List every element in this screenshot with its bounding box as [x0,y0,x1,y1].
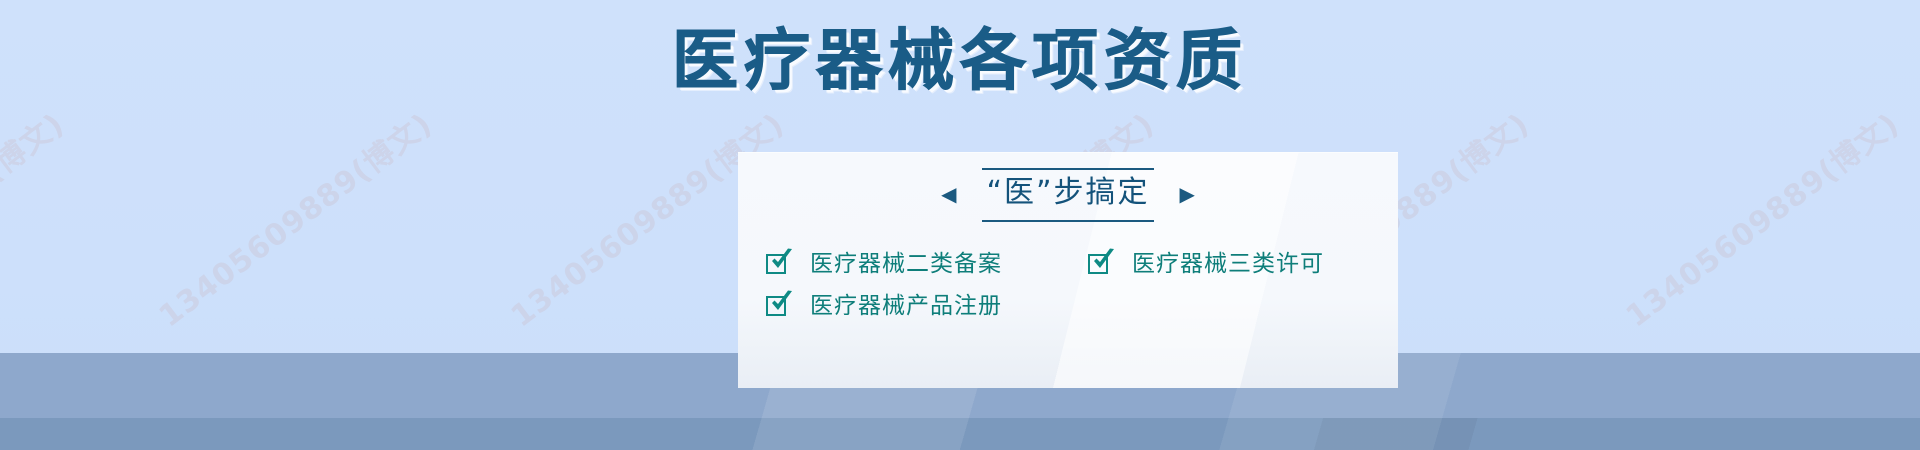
checkbox-checked-icon [766,252,790,276]
subtitle-row: ◀ “医”步搞定 ▶ [738,168,1398,222]
checklist-item-label: 医疗器械三类许可 [1132,253,1324,276]
qualification-checklist: 医疗器械二类备案 医疗器械三类许可 [766,252,1376,336]
content-card: ◀ “医”步搞定 ▶ 医疗器械二类备案 [738,152,1398,388]
checklist-row: 医疗器械二类备案 医疗器械三类许可 [766,252,1376,276]
subtitle-box: “医”步搞定 [982,168,1153,222]
checklist-row: 医疗器械产品注册 [766,294,1376,318]
list-item[interactable]: 医疗器械二类备案 [766,252,1088,276]
page-title: 医疗器械各项资质 [672,28,1248,94]
arrow-right-icon: ▶ [1180,185,1195,205]
checkbox-checked-icon [1088,252,1112,276]
watermark-text: 13405609889(博文) [148,100,440,335]
list-item[interactable]: 医疗器械产品注册 [766,294,1088,318]
list-item[interactable]: 医疗器械三类许可 [1088,252,1324,276]
banner-subtitle: “医”步搞定 [986,175,1149,210]
watermark-text: 13405609889(博文) [0,100,72,335]
checklist-item-label: 医疗器械二类备案 [810,253,1002,276]
checkbox-checked-icon [766,294,790,318]
promo-banner: 13405609889(博文) 13405609889(博文) 13405609… [0,0,1920,450]
arrow-left-icon: ◀ [941,185,956,205]
decorative-band-bottom [0,418,1920,450]
checklist-item-label: 医疗器械产品注册 [810,295,1002,318]
watermark-text: 13405609889(博文) [1615,100,1907,335]
banner-title-wrap: 医疗器械各项资质 [0,28,1920,94]
